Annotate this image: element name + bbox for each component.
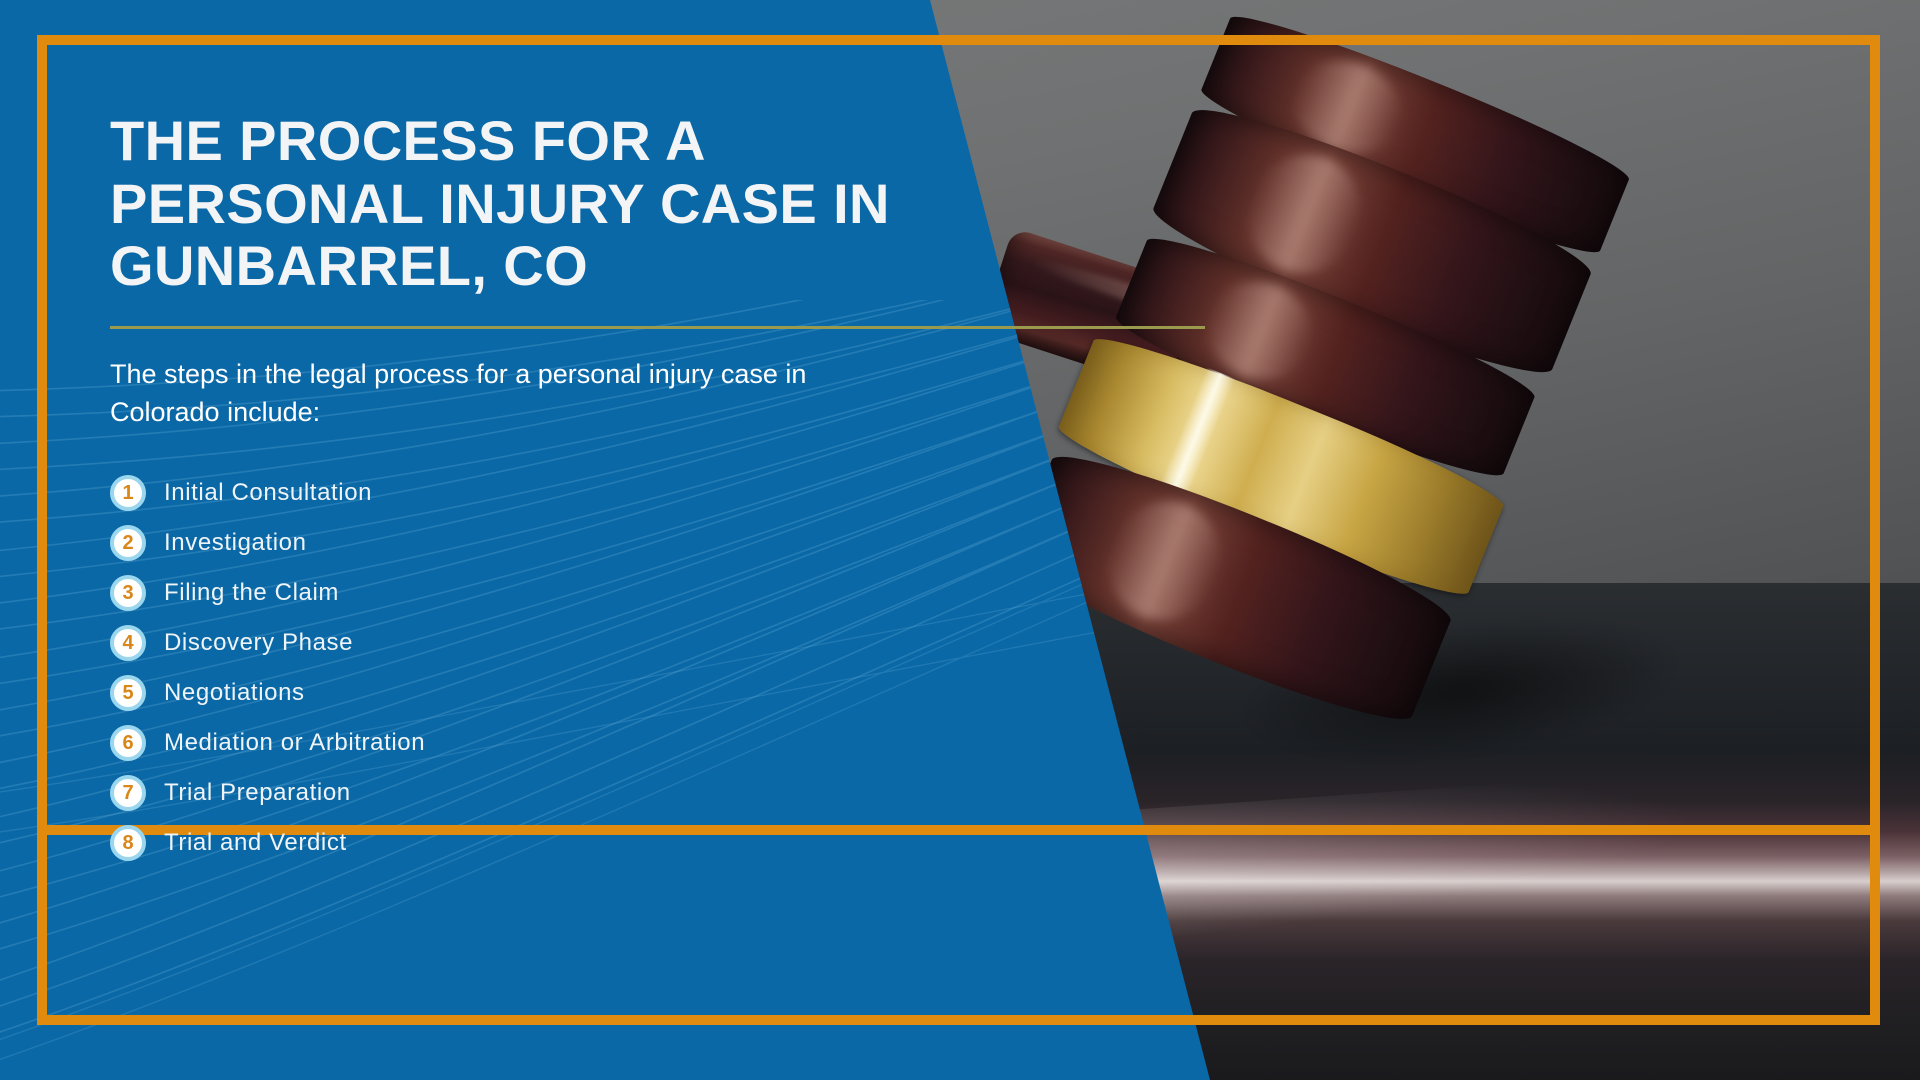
step-number-badge: 5 [110, 675, 146, 711]
step-label: Discovery Phase [164, 629, 353, 657]
step-label: Initial Consultation [164, 479, 372, 507]
step-label: Trial and Verdict [164, 829, 347, 857]
infographic-canvas: THE PROCESS FOR A PERSONAL INJURY CASE I… [0, 0, 1920, 1080]
steps-list: 1Initial Consultation2Investigation3Fili… [110, 468, 990, 868]
list-item: 3Filing the Claim [110, 568, 990, 618]
step-label: Filing the Claim [164, 579, 339, 607]
list-item: 1Initial Consultation [110, 468, 990, 518]
step-label: Mediation or Arbitration [164, 729, 425, 757]
list-item: 4Discovery Phase [110, 618, 990, 668]
step-label: Trial Preparation [164, 779, 351, 807]
step-number-badge: 6 [110, 725, 146, 761]
step-number-badge: 8 [110, 825, 146, 861]
orange-frame-bottom [37, 1015, 1880, 1025]
subtitle-text: The steps in the legal process for a per… [110, 355, 840, 432]
list-item: 7Trial Preparation [110, 768, 990, 818]
title-divider [110, 326, 1205, 329]
list-item: 6Mediation or Arbitration [110, 718, 990, 768]
step-number-badge: 3 [110, 575, 146, 611]
step-number-badge: 4 [110, 625, 146, 661]
step-label: Investigation [164, 529, 307, 557]
list-item: 5Negotiations [110, 668, 990, 718]
list-item: 8Trial and Verdict [110, 818, 990, 868]
orange-frame-right-lower [1870, 835, 1880, 1025]
page-title: THE PROCESS FOR A PERSONAL INJURY CASE I… [110, 110, 940, 298]
step-label: Negotiations [164, 679, 305, 707]
content-block: THE PROCESS FOR A PERSONAL INJURY CASE I… [110, 110, 990, 868]
step-number-badge: 7 [110, 775, 146, 811]
step-number-badge: 1 [110, 475, 146, 511]
list-item: 2Investigation [110, 518, 990, 568]
orange-frame-left-lower [37, 835, 47, 1025]
step-number-badge: 2 [110, 525, 146, 561]
